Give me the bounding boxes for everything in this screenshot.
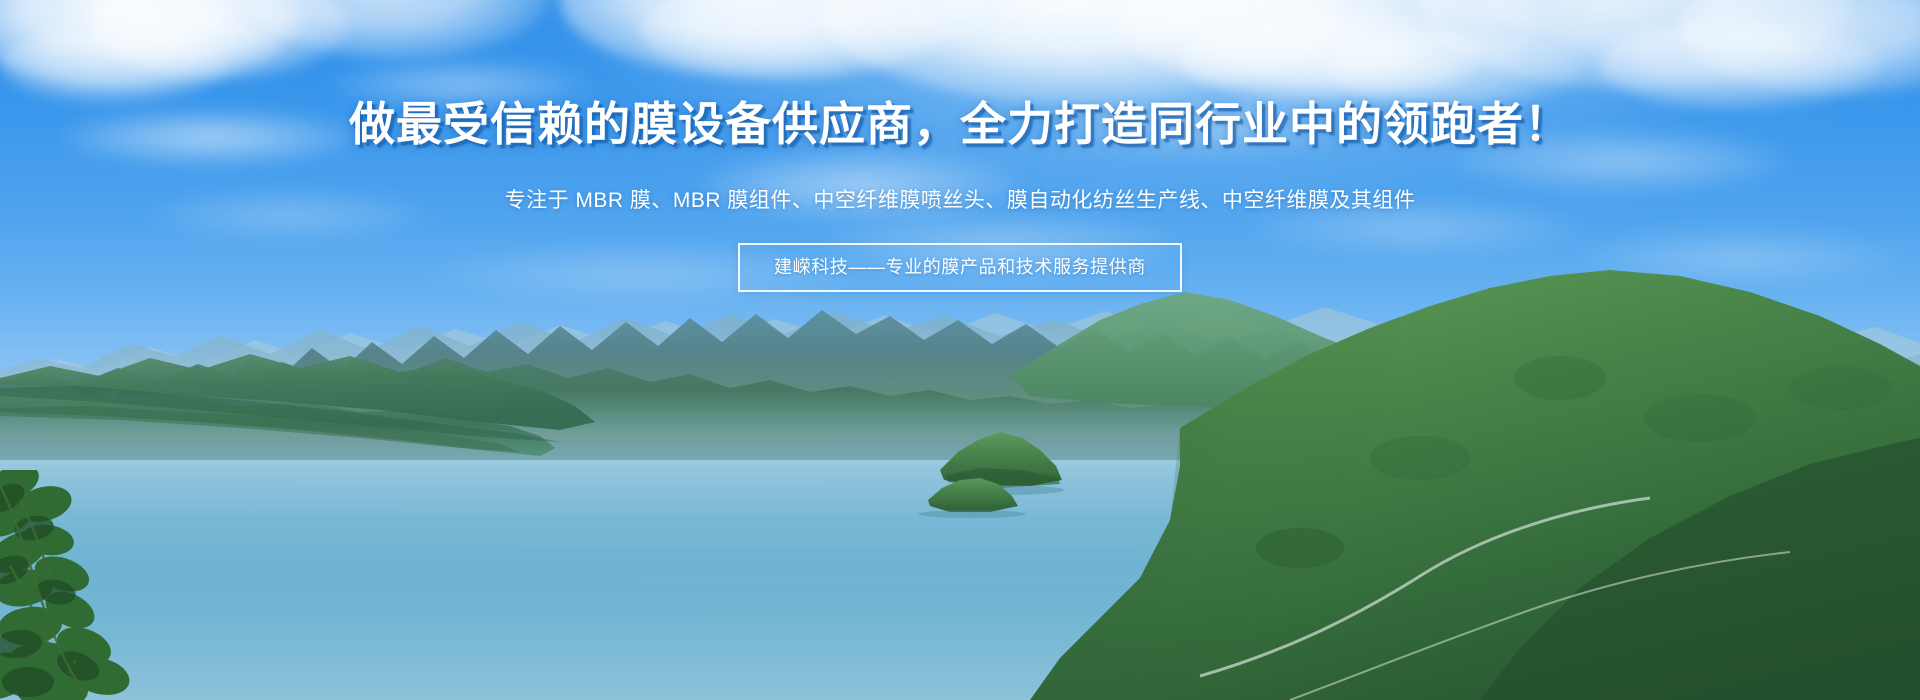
banner-tagline-wrap: 建嵘科技——专业的膜产品和技术服务提供商	[0, 243, 1920, 292]
banner-subtitle: 专注于 MBR 膜、MBR 膜组件、中空纤维膜喷丝头、膜自动化纺丝生产线、中空纤…	[0, 186, 1920, 216]
hero-banner: 做最受信赖的膜设备供应商，全力打造同行业中的领跑者！ 专注于 MBR 膜、MBR…	[0, 0, 1920, 700]
banner-tagline-box: 建嵘科技——专业的膜产品和技术服务提供商	[738, 243, 1182, 292]
lake-water	[0, 398, 1920, 700]
banner-headline: 做最受信赖的膜设备供应商，全力打造同行业中的领跑者！	[0, 99, 1920, 149]
